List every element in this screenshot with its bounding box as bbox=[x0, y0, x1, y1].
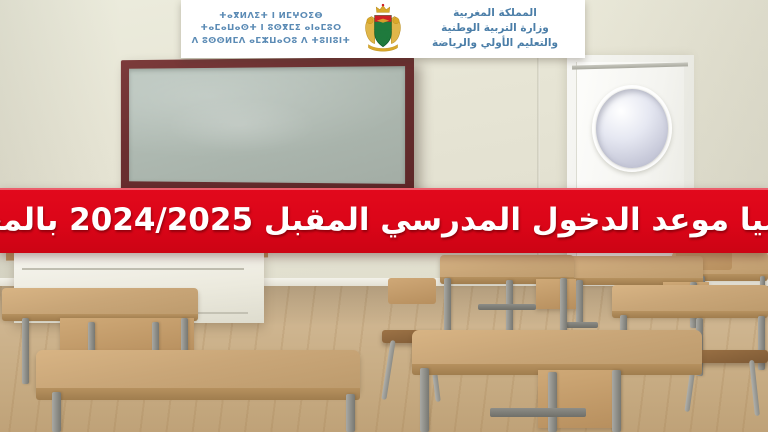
chair-back bbox=[388, 278, 436, 304]
desk-edge bbox=[36, 388, 360, 400]
door-round-window bbox=[596, 89, 668, 168]
desk-leg bbox=[22, 318, 29, 384]
desk-foot bbox=[490, 408, 586, 417]
headline-text: رسميا موعد الدخول المدرسي المقبل 2024/20… bbox=[0, 205, 768, 236]
screenshot-canvas: رسميا موعد الدخول المدرسي المقبل 2024/20… bbox=[0, 0, 768, 432]
arabic-text-block: المملكة المغربية وزارة التربية الوطنية و… bbox=[413, 6, 577, 51]
amazigh-line-3: ⴷ ⵓⵙⵙⵍⵎⴷ ⴰⵎⵣⵡⴰⵔⵓ ⴷ ⵜⵓⵏⵏⵓⵏⵜ bbox=[189, 35, 353, 47]
desk-leg bbox=[560, 278, 567, 334]
desk-leg bbox=[346, 394, 355, 432]
morocco-coat-of-arms-icon bbox=[357, 3, 409, 55]
headline-banner: رسميا موعد الدخول المدرسي المقبل 2024/20… bbox=[0, 188, 768, 253]
amazigh-line-2: ⵜⴰⵎⴰⵡⴰⵙⵜ ⵏ ⵓⵙⴳⵎⵉ ⴰⵏⴰⵎⵓⵔ bbox=[189, 22, 353, 34]
arabic-line-2: وزارة التربية الوطنية bbox=[413, 21, 577, 36]
amazigh-text-block: ⵜⴰⴳⵍⴷⵉⵜ ⵏ ⵍⵎⵖⵔⵉⴱ ⵜⴰⵎⴰⵡⴰⵙⵜ ⵏ ⵓⵙⴳⵎⵉ ⴰⵏⴰⵎⵓⵔ… bbox=[189, 10, 353, 46]
desk-edge bbox=[612, 311, 768, 318]
desk-back-panel bbox=[60, 318, 194, 354]
desk-back-panel bbox=[536, 279, 576, 309]
desk-leg bbox=[612, 370, 621, 432]
blackboard bbox=[121, 57, 414, 193]
amazigh-line-1: ⵜⴰⴳⵍⴷⵉⵜ ⵏ ⵍⵎⵖⵔⵉⴱ bbox=[189, 10, 353, 22]
banner-top-highlight bbox=[0, 188, 768, 190]
cabinet-seam bbox=[22, 268, 244, 270]
blackboard-smudge bbox=[166, 97, 317, 153]
blackboard-surface bbox=[129, 66, 405, 184]
arabic-line-1: المملكة المغربية bbox=[413, 6, 577, 21]
desk-leg bbox=[548, 372, 557, 432]
desk-leg bbox=[444, 278, 451, 336]
ministry-logo-banner: ⵜⴰⴳⵍⴷⵉⵜ ⵏ ⵍⵎⵖⵔⵉⴱ ⵜⴰⵎⴰⵡⴰⵙⵜ ⵏ ⵓⵙⴳⵎⵉ ⴰⵏⴰⵎⵓⵔ… bbox=[181, 0, 585, 58]
desk-leg bbox=[420, 368, 429, 432]
arabic-line-3: والتعليم الأولي والرياضة bbox=[413, 36, 577, 51]
desk-foot bbox=[478, 304, 536, 310]
desk-foot bbox=[566, 322, 598, 328]
desk-leg bbox=[576, 280, 583, 326]
desk-leg bbox=[52, 392, 61, 432]
